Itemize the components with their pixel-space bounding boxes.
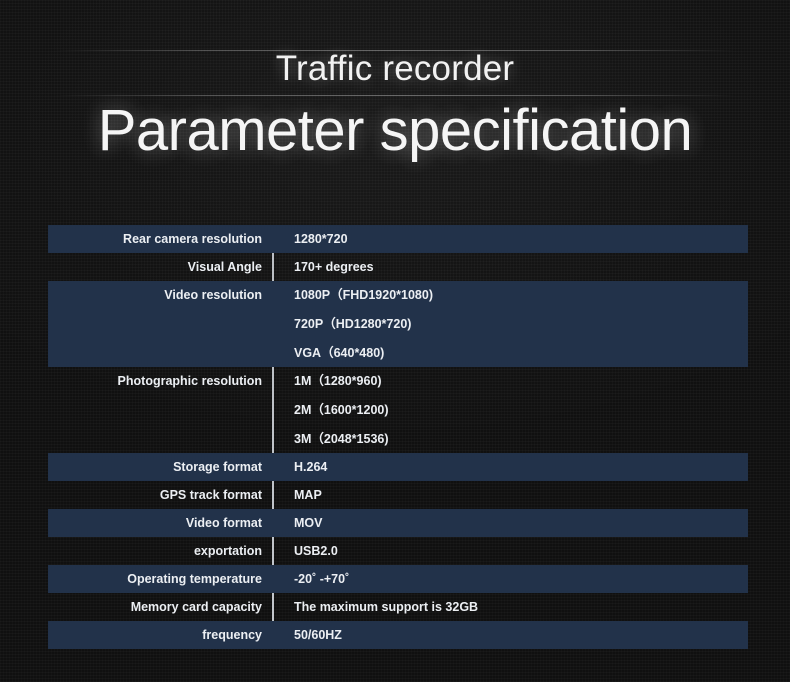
table-row: GPS track formatMAP — [48, 481, 748, 509]
table-row: Photographic resolution1M（1280*960)2M（16… — [48, 367, 748, 453]
spec-label: Rear camera resolution — [48, 225, 272, 253]
spec-value: 50/60HZ — [272, 621, 748, 649]
spec-label: Memory card capacity — [48, 593, 272, 621]
table-row: Operating temperature-20˚ -+70˚ — [48, 565, 748, 593]
spec-value: 1080P（FHD1920*1080)720P（HD1280*720)VGA（6… — [272, 281, 748, 367]
spec-label: exportation — [48, 537, 272, 565]
spec-value: 1280*720 — [272, 225, 748, 253]
page-title: Parameter specification — [0, 94, 790, 168]
specification-table: Rear camera resolution1280*720Visual Ang… — [48, 225, 748, 649]
spec-label: frequency — [48, 621, 272, 649]
spec-value-line: USB2.0 — [294, 542, 740, 560]
spec-value-line: MAP — [294, 486, 740, 504]
spec-value-line: 3M（2048*1536) — [294, 430, 740, 448]
table-row: Storage formatH.264 — [48, 453, 748, 481]
spec-value-line: -20˚ -+70˚ — [294, 570, 740, 588]
spec-value-line: 720P（HD1280*720) — [294, 315, 740, 333]
spec-label: Photographic resolution — [48, 367, 272, 395]
spec-value: The maximum support is 32GB — [272, 593, 748, 621]
spec-value-line: H.264 — [294, 458, 740, 476]
spec-label: Visual Angle — [48, 253, 272, 281]
spec-sheet-page: Traffic recorder Parameter specification… — [0, 0, 790, 682]
spec-value-line: 1M（1280*960) — [294, 372, 740, 390]
spec-value: 170+ degrees — [272, 253, 748, 281]
spec-label: Video resolution — [48, 281, 272, 309]
spec-value-line: 2M（1600*1200) — [294, 401, 740, 419]
spec-value: 1M（1280*960)2M（1600*1200)3M（2048*1536) — [272, 367, 748, 453]
table-row: Visual Angle170+ degrees — [48, 253, 748, 281]
table-row: Video resolution1080P（FHD1920*1080)720P（… — [48, 281, 748, 367]
page-header: Traffic recorder Parameter specification — [0, 0, 790, 200]
spec-label: GPS track format — [48, 481, 272, 509]
spec-value: H.264 — [272, 453, 748, 481]
spec-value-line: 50/60HZ — [294, 626, 740, 644]
spec-label: Operating temperature — [48, 565, 272, 593]
spec-label: Video format — [48, 509, 272, 537]
spec-value: MAP — [272, 481, 748, 509]
table-row: exportationUSB2.0 — [48, 537, 748, 565]
spec-value-line: 170+ degrees — [294, 258, 740, 276]
spec-value-line: MOV — [294, 514, 740, 532]
page-subtitle: Traffic recorder — [0, 46, 790, 92]
spec-value: MOV — [272, 509, 748, 537]
spec-value-line: 1280*720 — [294, 230, 740, 248]
table-row: Rear camera resolution1280*720 — [48, 225, 748, 253]
table-row: frequency50/60HZ — [48, 621, 748, 649]
spec-label: Storage format — [48, 453, 272, 481]
spec-value-line: VGA（640*480) — [294, 344, 740, 362]
spec-value-line: 1080P（FHD1920*1080) — [294, 286, 740, 304]
spec-value: -20˚ -+70˚ — [272, 565, 748, 593]
spec-value-line: The maximum support is 32GB — [294, 598, 740, 616]
spec-value: USB2.0 — [272, 537, 748, 565]
table-row: Memory card capacityThe maximum support … — [48, 593, 748, 621]
table-row: Video formatMOV — [48, 509, 748, 537]
